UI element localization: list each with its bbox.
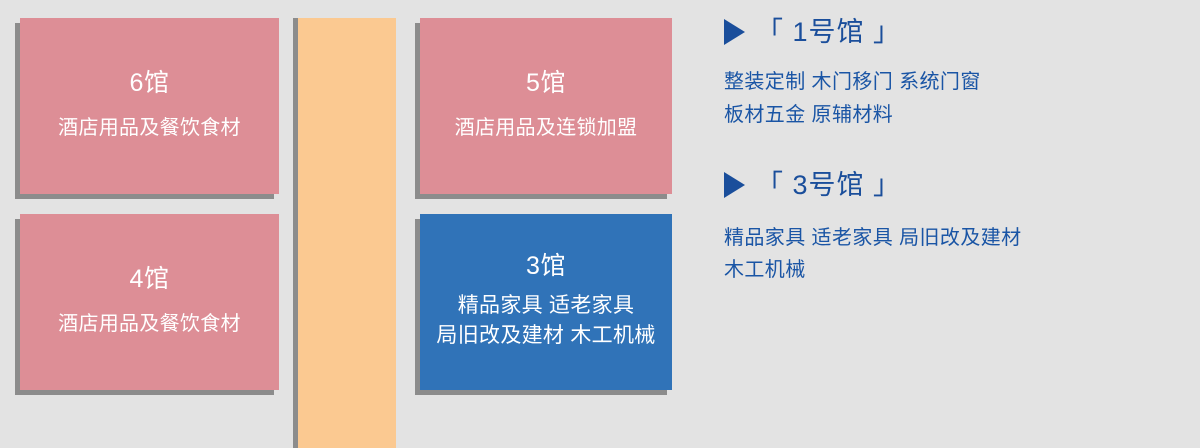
corridor-strip: [298, 18, 396, 448]
legend-group-hall-1: 「 1号馆 」 整装定制 木门移门 系统门窗 板材五金 原辅材料: [724, 16, 1174, 131]
hall-number-3: 3馆: [526, 252, 566, 281]
legend-group-hall-3: 「 3号馆 」 精品家具 适老家具 局旧改及建材 木工机械: [724, 169, 1174, 286]
hall-description-3: 精品家具 适老家具 局旧改及建材 木工机械: [436, 291, 655, 352]
hall-block-4[interactable]: 4馆 酒店用品及餐饮食材: [20, 214, 279, 390]
hall-description-6: 酒店用品及餐饮食材: [58, 114, 241, 143]
legend-body-hall-1: 整装定制 木门移门 系统门窗 板材五金 原辅材料: [724, 66, 1174, 131]
hall-description-4: 酒店用品及餐饮食材: [58, 310, 241, 339]
hall-description-5: 酒店用品及连锁加盟: [455, 114, 638, 143]
exhibition-floorplan-graphic: 6馆 酒店用品及餐饮食材 4馆 酒店用品及餐饮食材 5馆 酒店用品及连锁加盟 3…: [0, 0, 1200, 438]
legend-panel: 「 1号馆 」 整装定制 木门移门 系统门窗 板材五金 原辅材料 「 3号馆 」…: [724, 16, 1174, 286]
legend-title-hall-1: 「 1号馆 」: [756, 16, 901, 48]
hall-number-5: 5馆: [526, 69, 566, 98]
hall-block-5[interactable]: 5馆 酒店用品及连锁加盟: [420, 18, 672, 194]
hall-block-6[interactable]: 6馆 酒店用品及餐饮食材: [20, 18, 279, 194]
legend-title-hall-3: 「 3号馆 」: [756, 169, 901, 201]
hall-number-6: 6馆: [130, 69, 170, 98]
hall-number-4: 4馆: [130, 265, 170, 294]
legend-body-hall-3: 精品家具 适老家具 局旧改及建材 木工机械: [724, 222, 1174, 287]
play-triangle-icon: [724, 19, 745, 45]
legend-heading-hall-3: 「 3号馆 」: [724, 169, 1174, 201]
hall-block-3[interactable]: 3馆 精品家具 适老家具 局旧改及建材 木工机械: [420, 214, 672, 390]
play-triangle-icon: [724, 172, 745, 198]
legend-heading-hall-1: 「 1号馆 」: [724, 16, 1174, 48]
